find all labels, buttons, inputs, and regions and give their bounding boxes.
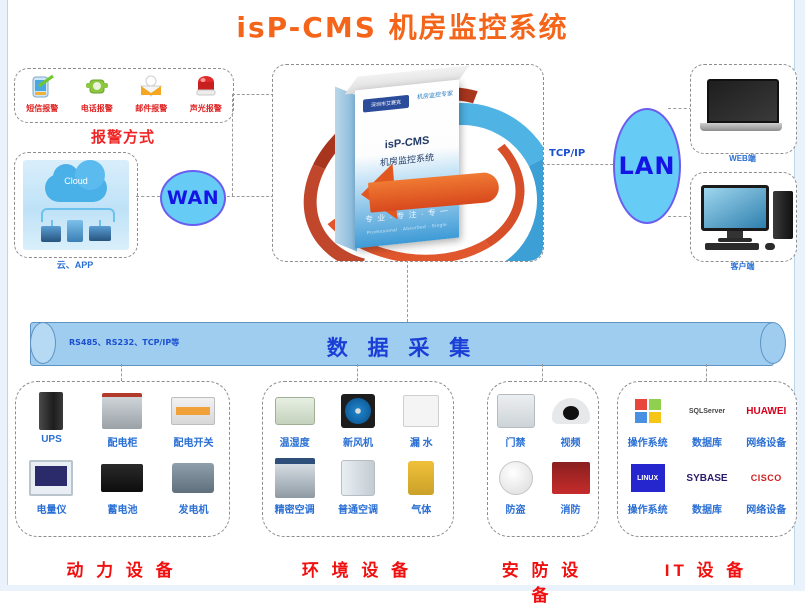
cloud-label-text: Cloud [23, 176, 129, 186]
precision-ac-icon [263, 457, 326, 499]
laptop-base [700, 123, 782, 131]
lan-label: LAN [619, 152, 676, 180]
device-label: 电量仪 [16, 501, 87, 516]
cisco-logo-icon: CISCO [737, 457, 796, 499]
connector-lan-web [668, 108, 692, 109]
power-cabinet-icon [87, 390, 158, 432]
device-label: 发电机 [158, 501, 229, 516]
sybase-logo-icon: SYBASE [677, 457, 736, 499]
caption-security-devices: 安 防 设 备 [487, 556, 597, 606]
alarm-methods-box: 短信报警 电话报警 [14, 68, 234, 123]
connector-cloud-wan [136, 196, 160, 197]
camera-icon [543, 390, 598, 432]
web-terminal-box [690, 64, 797, 154]
device-label: 防盗 [488, 501, 543, 516]
device-label: 温湿度 [263, 434, 326, 449]
data-collection-title: 数 据 采 集 [31, 332, 773, 362]
group-environment-devices: 温湿度 新风机 漏 水 精密空调 普通空调 气体 [262, 381, 454, 537]
cloud-app-label: 云、APP [14, 258, 136, 271]
alarm-methods-title: 报警方式 [14, 126, 232, 147]
client-terminal-label: 客户端 [690, 261, 795, 272]
device-label: 漏 水 [390, 434, 453, 449]
alarm-item-label: 声光报警 [181, 103, 231, 114]
device-label: 操作系统 [618, 434, 677, 449]
intrusion-icon [488, 457, 543, 499]
sms-icon [17, 72, 67, 102]
mouse-icon [765, 243, 775, 250]
wan-node: WAN [160, 170, 226, 226]
product-box: 深圳市艾赛克 机房监控专家 isP-CMS 机房监控系统 专 业 · 专 注 ·… [272, 64, 544, 262]
cloud-pc-icon [41, 226, 61, 242]
device-label: 普通空调 [326, 501, 389, 516]
connector-alarm-down [232, 94, 233, 196]
caption-it-devices: IT 设 备 [617, 556, 795, 581]
alarm-item: 声光报警 [181, 72, 231, 114]
pc-tower [773, 191, 793, 239]
device-label: 门禁 [488, 434, 543, 449]
device-label: 数据库 [677, 501, 736, 516]
connector-alarm-center [232, 94, 274, 95]
device-item: 漏 水 [390, 390, 453, 457]
software-package: 深圳市艾赛克 机房监控专家 isP-CMS 机房监控系统 专 业 · 专 注 ·… [355, 80, 459, 249]
wan-label: WAN [167, 187, 219, 209]
device-item: 视频 [543, 390, 598, 457]
device-item: 气体 [390, 457, 453, 524]
keyboard-icon [705, 243, 759, 250]
power-meter-icon [16, 457, 87, 499]
alarm-item-label: 电话报警 [72, 103, 122, 114]
device-item: CISCO 网络设备 [737, 457, 796, 524]
fire-fighting-icon [543, 457, 598, 499]
alarm-item: 短信报警 [17, 72, 67, 114]
alarm-item: 邮件报警 [126, 72, 176, 114]
water-leak-icon [390, 390, 453, 432]
breaker-icon [158, 390, 229, 432]
device-item: 配电柜 [87, 390, 158, 457]
ups-icon [16, 390, 87, 432]
temp-humidity-icon [263, 390, 326, 432]
alarm-item: 电话报警 [72, 72, 122, 114]
laptop-icon [707, 79, 782, 131]
connector-collector-power [121, 364, 122, 381]
device-item: 温湿度 [263, 390, 326, 457]
device-label: 数据库 [677, 434, 736, 449]
huawei-logo-text: HUAWEI [746, 406, 786, 417]
device-label: UPS [16, 434, 87, 445]
device-item: 电量仪 [16, 457, 87, 524]
device-label: 网络设备 [737, 434, 796, 449]
package-side [335, 87, 357, 252]
sybase-logo-text: SYBASE [686, 473, 727, 484]
fan-icon [326, 390, 389, 432]
data-collection-bar: RS485、RS232、TCP/IP等 数 据 采 集 [30, 322, 774, 366]
device-label: 操作系统 [618, 501, 677, 516]
mail-icon [126, 72, 176, 102]
connector-center-collector [407, 260, 408, 322]
generator-icon [158, 457, 229, 499]
product-illustration: 深圳市艾赛克 机房监控专家 isP-CMS 机房监控系统 专 业 · 专 注 ·… [273, 65, 543, 261]
cloud-laptop-icon [89, 226, 111, 241]
monitor-stand [727, 231, 743, 238]
caption-power-devices: 动 力 设 备 [15, 556, 228, 581]
gas-detector-icon [390, 457, 453, 499]
access-control-icon [488, 390, 543, 432]
connector-lan-client [668, 216, 692, 217]
device-item: 消防 [543, 457, 598, 524]
siren-icon [181, 72, 231, 102]
desktop-icon [701, 185, 769, 242]
device-item: HUAWEI 网络设备 [737, 390, 796, 457]
device-item: 普通空调 [326, 457, 389, 524]
page-title: isP-CMS 机房监控系统 [0, 6, 805, 46]
device-item: SYBASE 数据库 [677, 457, 736, 524]
huawei-logo-icon: HUAWEI [737, 390, 796, 432]
device-item: 门禁 [488, 390, 543, 457]
cloud-tablet-icon [67, 220, 83, 242]
device-label: 气体 [390, 501, 453, 516]
connector-collector-env [357, 364, 358, 381]
phone-icon [72, 72, 122, 102]
cloud-app-box: Cloud [14, 152, 138, 258]
monitor-screen [701, 185, 769, 231]
connector-collector-it [706, 364, 707, 381]
linux-logo-icon: LINUX [618, 457, 677, 499]
device-label: 配电柜 [87, 434, 158, 449]
group-it-devices: 操作系统 SQLServer 数据库 HUAWEI 网络设备 LINUX 操作系… [617, 381, 797, 537]
common-ac-icon [326, 457, 389, 499]
device-item: 操作系统 [618, 390, 677, 457]
connector-wan-center [222, 196, 274, 197]
device-item: LINUX 操作系统 [618, 457, 677, 524]
cisco-logo-text: CISCO [751, 473, 782, 483]
group-power-devices: UPS 配电柜 配电开关 电量仪 蓄电池 发电机 [15, 381, 230, 537]
laptop-screen [707, 79, 779, 123]
device-item: 防盗 [488, 457, 543, 524]
cloud-illustration: Cloud [23, 160, 129, 250]
battery-icon [87, 457, 158, 499]
device-label: 网络设备 [737, 501, 796, 516]
device-item: SQLServer 数据库 [677, 390, 736, 457]
sqlserver-logo-icon: SQLServer [677, 390, 736, 432]
device-label: 蓄电池 [87, 501, 158, 516]
device-label: 消防 [543, 501, 598, 516]
sqlserver-logo-text: SQLServer [689, 408, 725, 415]
device-item: 蓄电池 [87, 457, 158, 524]
device-item: UPS [16, 390, 87, 457]
device-label: 视频 [543, 434, 598, 449]
group-security-devices: 门禁 视频 防盗 消防 [487, 381, 599, 537]
device-item: 发电机 [158, 457, 229, 524]
left-edge-strip [0, 0, 8, 591]
device-item: 配电开关 [158, 390, 229, 457]
diagram-canvas: isP-CMS 机房监控系统 短信报警 [0, 0, 805, 591]
device-item: 精密空调 [263, 457, 326, 524]
connector-center-lan [542, 164, 613, 165]
linux-logo-text: LINUX [631, 464, 665, 492]
connector-collector-sec [542, 364, 543, 381]
monitor-base [718, 238, 752, 242]
lan-node: LAN [613, 108, 681, 224]
caption-environment-devices: 环 境 设 备 [262, 556, 452, 581]
alarm-item-label: 短信报警 [17, 103, 67, 114]
device-label: 精密空调 [263, 501, 326, 516]
windows-logo-icon [618, 390, 677, 432]
alarm-item-label: 邮件报警 [126, 103, 176, 114]
device-item: 新风机 [326, 390, 389, 457]
device-label: 新风机 [326, 434, 389, 449]
package-tagline: 机房监控专家 [417, 88, 453, 101]
web-terminal-label: WEB端 [690, 153, 795, 164]
client-terminal-box [690, 172, 797, 262]
bottom-edge-strip [0, 585, 805, 591]
tcpip-label: TCP/IP [549, 148, 585, 159]
vendor-logo: 深圳市艾赛克 [363, 95, 409, 113]
device-label: 配电开关 [158, 434, 229, 449]
